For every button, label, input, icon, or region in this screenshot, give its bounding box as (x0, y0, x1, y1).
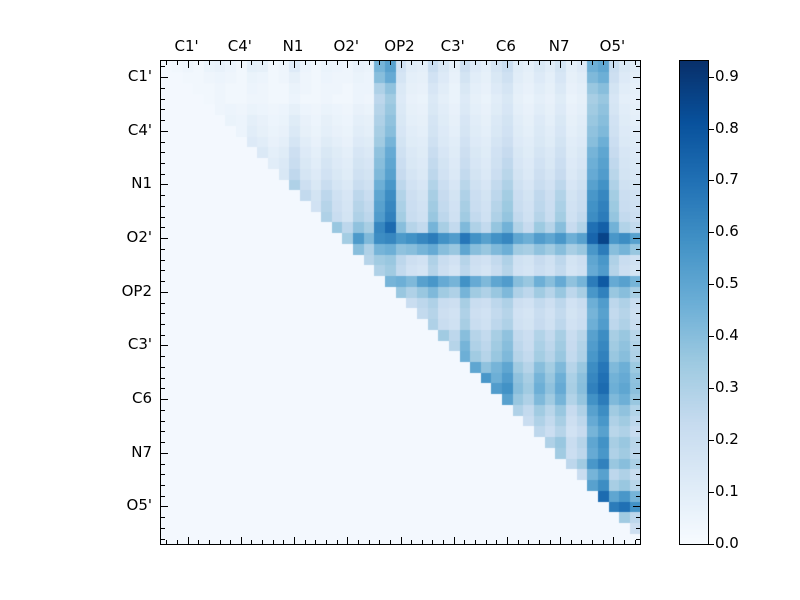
y-tick (161, 195, 165, 196)
x-tick (475, 61, 476, 65)
x-tick (347, 537, 348, 544)
x-tick (613, 61, 614, 68)
y-tick (161, 367, 165, 368)
x-tick (432, 61, 433, 65)
x-tick (613, 537, 614, 544)
x-tick-label: OP2 (384, 37, 414, 55)
y-tick (161, 324, 165, 325)
x-tick (454, 61, 455, 68)
x-tick (464, 540, 465, 544)
x-tick (358, 540, 359, 544)
colorbar-tick (709, 77, 714, 78)
colorbar-tick (709, 544, 714, 545)
colorbar-tick-label: 0.9 (715, 67, 739, 85)
y-tick (636, 431, 640, 432)
y-tick (633, 77, 640, 78)
x-tick (177, 61, 178, 65)
colorbar-tick-label: 0.7 (715, 170, 739, 188)
y-tick (161, 260, 165, 261)
colorbar-tick (709, 284, 714, 285)
x-tick (283, 540, 284, 544)
y-tick (161, 539, 165, 540)
figure-canvas: C1'C4'N1O2'OP2C3'C6N7O5' C1'C4'N1O2'OP2C… (0, 0, 800, 600)
colorbar-gradient (680, 61, 708, 544)
x-tick (432, 540, 433, 544)
x-tick (315, 61, 316, 65)
y-tick (161, 399, 168, 400)
x-tick (379, 540, 380, 544)
x-tick (507, 61, 508, 68)
x-tick-label: C4' (228, 37, 252, 55)
y-tick (636, 464, 640, 465)
x-tick (443, 540, 444, 544)
x-tick (496, 540, 497, 544)
x-tick (166, 540, 167, 544)
x-tick (486, 540, 487, 544)
heatmap-axes (160, 60, 641, 545)
y-tick (636, 324, 640, 325)
y-tick (636, 249, 640, 250)
y-tick (636, 142, 640, 143)
colorbar-tick (709, 492, 714, 493)
y-tick (633, 292, 640, 293)
x-tick (198, 540, 199, 544)
y-tick (636, 367, 640, 368)
y-tick (636, 335, 640, 336)
x-tick (635, 61, 636, 65)
y-tick-label: C4' (100, 121, 152, 139)
y-tick (161, 388, 165, 389)
y-tick (161, 431, 165, 432)
colorbar-tick-label: 0.1 (715, 482, 739, 500)
y-tick (161, 421, 165, 422)
x-tick (273, 540, 274, 544)
y-tick (633, 238, 640, 239)
y-tick (636, 356, 640, 357)
x-tick (401, 537, 402, 544)
y-tick (161, 335, 165, 336)
x-tick-label: N7 (549, 37, 570, 55)
x-tick (188, 537, 189, 544)
y-tick (161, 292, 168, 293)
x-tick (241, 537, 242, 544)
x-tick (507, 537, 508, 544)
y-tick (161, 109, 165, 110)
x-tick (411, 540, 412, 544)
y-tick (161, 528, 165, 529)
y-tick (161, 453, 168, 454)
x-tick (454, 537, 455, 544)
y-tick (636, 66, 640, 67)
x-tick (379, 61, 380, 65)
y-tick (636, 442, 640, 443)
y-tick (636, 528, 640, 529)
y-tick-label: N7 (100, 443, 152, 461)
x-tick (188, 61, 189, 68)
x-tick (230, 540, 231, 544)
y-tick (161, 142, 165, 143)
colorbar-tick (709, 232, 714, 233)
x-tick-label: C1' (175, 37, 199, 55)
x-tick (528, 61, 529, 65)
colorbar-tick (709, 336, 714, 337)
x-tick (496, 61, 497, 65)
x-tick (550, 540, 551, 544)
y-tick (161, 206, 165, 207)
x-tick (518, 540, 519, 544)
x-tick (369, 61, 370, 65)
y-tick-label: O5' (100, 496, 152, 514)
colorbar-tick-label: 0.5 (715, 274, 739, 292)
y-tick (161, 152, 165, 153)
y-tick (161, 88, 165, 89)
x-tick (283, 61, 284, 65)
y-tick (636, 152, 640, 153)
y-tick (161, 238, 168, 239)
x-tick (220, 540, 221, 544)
y-tick (636, 281, 640, 282)
y-tick (636, 421, 640, 422)
y-tick-label: C3' (100, 335, 152, 353)
y-tick (161, 345, 168, 346)
y-tick (161, 77, 168, 78)
y-tick (161, 120, 165, 121)
colorbar-tick-label: 0.3 (715, 378, 739, 396)
y-tick (161, 66, 165, 67)
x-tick (326, 540, 327, 544)
colorbar-tick (709, 388, 714, 389)
y-tick (636, 388, 640, 389)
x-tick (251, 61, 252, 65)
y-tick (161, 217, 165, 218)
y-tick-label: O2' (100, 228, 152, 246)
x-tick (603, 61, 604, 65)
x-tick (177, 540, 178, 544)
x-tick (369, 540, 370, 544)
y-tick (636, 410, 640, 411)
x-tick (518, 61, 519, 65)
y-tick (161, 174, 165, 175)
y-tick (636, 99, 640, 100)
y-tick (636, 195, 640, 196)
x-tick (528, 540, 529, 544)
y-tick (636, 474, 640, 475)
x-tick (560, 61, 561, 68)
x-tick (401, 61, 402, 68)
x-tick (550, 61, 551, 65)
y-tick (161, 485, 165, 486)
y-tick (161, 303, 165, 304)
x-tick (581, 540, 582, 544)
x-tick (347, 61, 348, 68)
y-tick (161, 356, 165, 357)
x-tick (422, 540, 423, 544)
colorbar-tick-label: 0.8 (715, 119, 739, 137)
x-tick (166, 61, 167, 65)
colorbar-tick (709, 129, 714, 130)
colorbar-tick-label: 0.4 (715, 326, 739, 344)
y-tick (636, 227, 640, 228)
y-tick (161, 281, 165, 282)
y-tick (636, 174, 640, 175)
x-tick (624, 61, 625, 65)
y-tick (161, 313, 165, 314)
y-tick (161, 99, 165, 100)
y-tick (636, 485, 640, 486)
y-tick (636, 109, 640, 110)
y-tick (636, 260, 640, 261)
x-tick (422, 61, 423, 65)
x-tick (305, 61, 306, 65)
x-tick (209, 61, 210, 65)
y-tick (636, 217, 640, 218)
x-tick (305, 540, 306, 544)
y-tick (161, 496, 165, 497)
y-tick (636, 496, 640, 497)
x-tick (241, 61, 242, 68)
x-tick-label: O2' (334, 37, 359, 55)
x-tick (635, 540, 636, 544)
colorbar-tick (709, 180, 714, 181)
y-tick (161, 410, 165, 411)
x-tick (539, 61, 540, 65)
y-tick (161, 442, 165, 443)
y-tick-label: N1 (100, 174, 152, 192)
x-tick (443, 61, 444, 65)
colorbar-tick-label: 0.2 (715, 430, 739, 448)
x-tick (209, 540, 210, 544)
y-tick (161, 464, 165, 465)
x-tick (411, 61, 412, 65)
x-tick-label: C6 (496, 37, 516, 55)
colorbar (679, 60, 709, 545)
y-tick (636, 88, 640, 89)
x-tick (571, 540, 572, 544)
x-tick-label: O5' (600, 37, 625, 55)
y-tick (161, 378, 165, 379)
y-tick (636, 206, 640, 207)
x-tick (358, 61, 359, 65)
y-tick (636, 303, 640, 304)
x-tick (592, 540, 593, 544)
x-tick (337, 61, 338, 65)
y-tick (636, 517, 640, 518)
y-tick (161, 131, 168, 132)
y-tick (636, 163, 640, 164)
x-tick (230, 61, 231, 65)
y-tick (161, 517, 165, 518)
x-tick (464, 61, 465, 65)
x-tick (294, 537, 295, 544)
x-tick (624, 540, 625, 544)
y-tick (636, 378, 640, 379)
y-tick (161, 506, 168, 507)
heatmap-image (161, 61, 640, 544)
x-tick (390, 540, 391, 544)
y-tick (161, 227, 165, 228)
x-tick (262, 61, 263, 65)
x-tick (592, 61, 593, 65)
y-tick (636, 313, 640, 314)
x-tick (603, 540, 604, 544)
colorbar-tick-label: 0.6 (715, 222, 739, 240)
x-tick (326, 61, 327, 65)
x-tick (262, 540, 263, 544)
x-tick (315, 540, 316, 544)
y-tick (633, 453, 640, 454)
y-tick (161, 163, 165, 164)
x-tick (337, 540, 338, 544)
x-tick-label: C3' (441, 37, 465, 55)
x-tick (294, 61, 295, 68)
x-tick (273, 61, 274, 65)
y-tick (161, 184, 168, 185)
x-tick (198, 61, 199, 65)
y-tick (636, 539, 640, 540)
x-tick (539, 540, 540, 544)
y-tick-label: C1' (100, 67, 152, 85)
x-tick-label: N1 (283, 37, 304, 55)
y-tick (161, 249, 165, 250)
y-tick (633, 399, 640, 400)
y-tick (633, 184, 640, 185)
x-tick (475, 540, 476, 544)
y-tick-label: C6 (100, 389, 152, 407)
x-tick (560, 537, 561, 544)
x-tick (220, 61, 221, 65)
y-tick-label: OP2 (100, 282, 152, 300)
colorbar-tick-label: 0.0 (715, 534, 739, 552)
x-tick (390, 61, 391, 65)
y-tick (636, 120, 640, 121)
y-tick (161, 474, 165, 475)
y-tick (633, 131, 640, 132)
y-tick (633, 345, 640, 346)
y-tick (161, 270, 165, 271)
x-tick (571, 61, 572, 65)
x-tick (581, 61, 582, 65)
y-tick (636, 270, 640, 271)
y-tick (633, 506, 640, 507)
x-tick (486, 61, 487, 65)
colorbar-tick (709, 440, 714, 441)
x-tick (251, 540, 252, 544)
